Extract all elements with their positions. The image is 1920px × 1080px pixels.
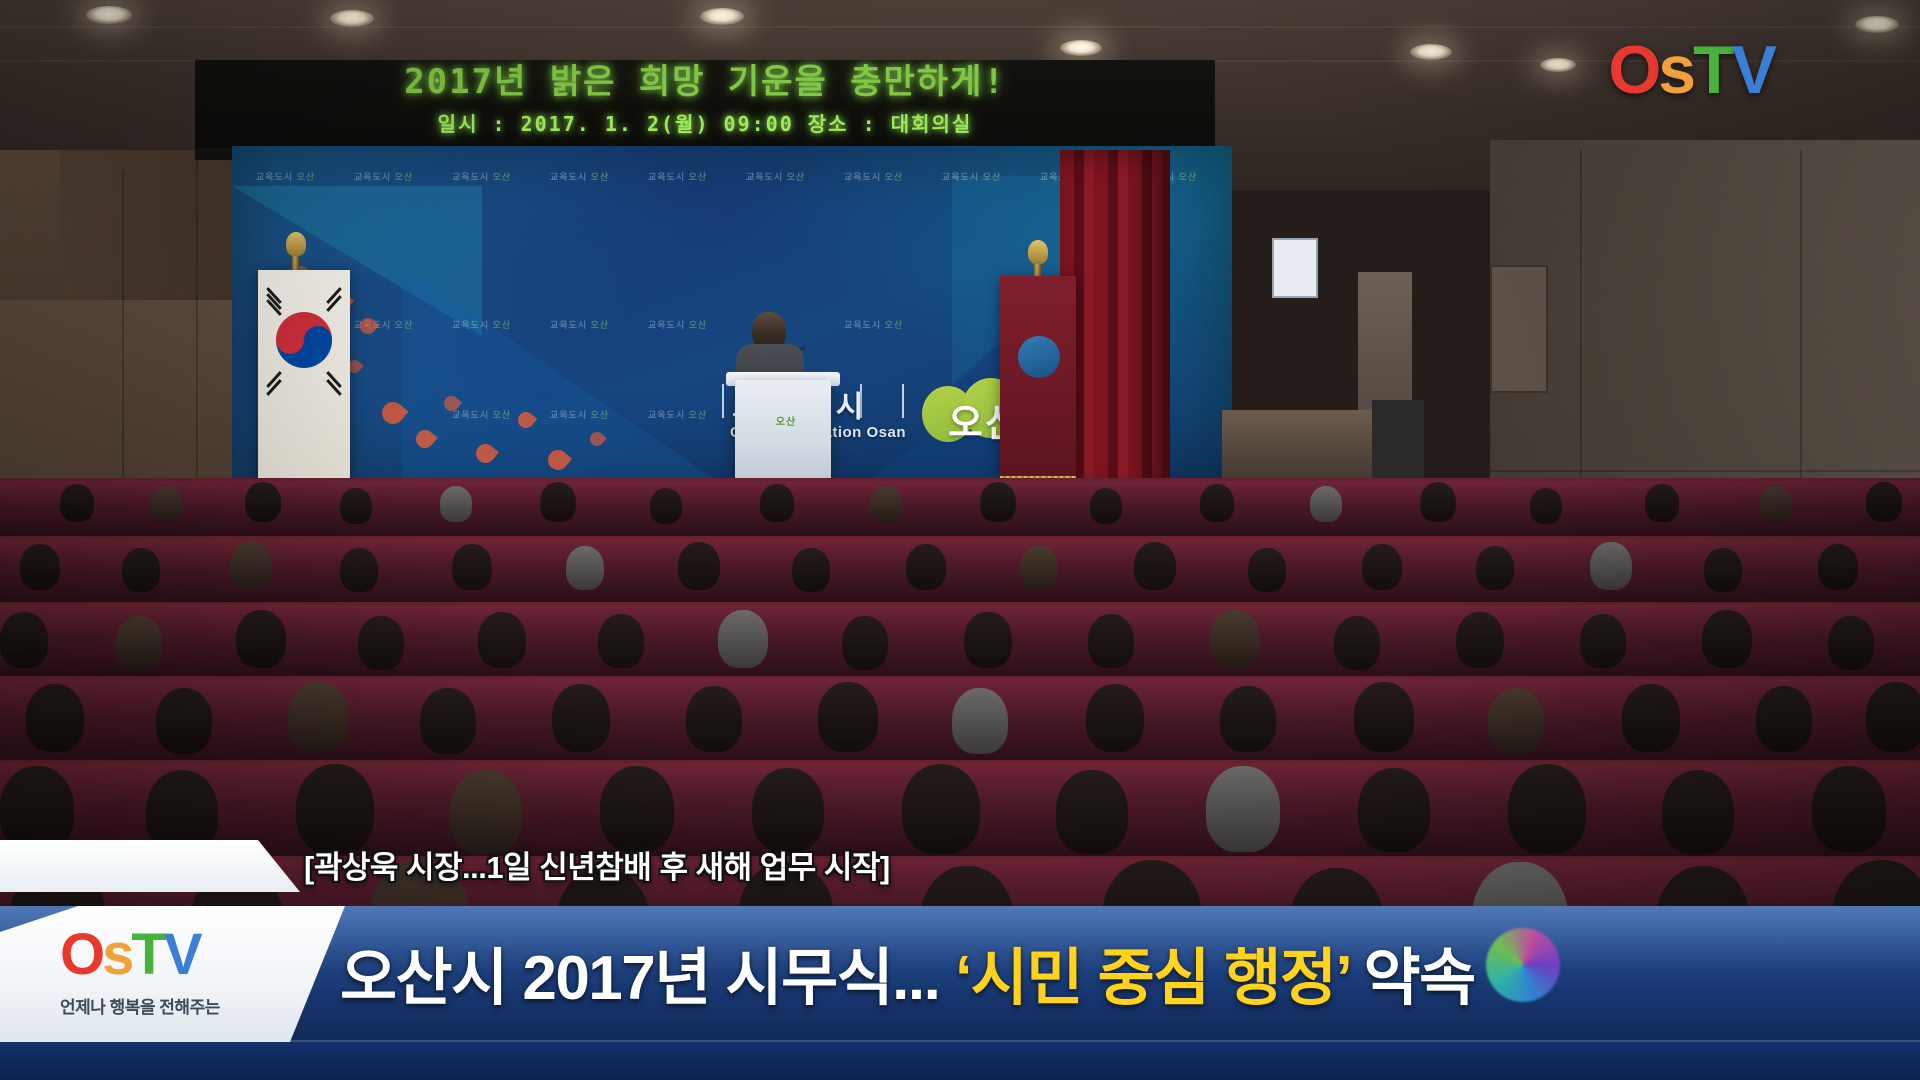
audience-head [1134, 542, 1176, 590]
audience-head [452, 544, 492, 590]
audience-head [1248, 548, 1286, 592]
logo-letter-o: O [60, 922, 102, 987]
left-wall-panel [0, 150, 60, 300]
subtitle-tab-shape [0, 840, 300, 892]
audience-head [1086, 684, 1144, 752]
led-sign: 2017년 밝은 희망 기운을 충만하게! 일시 : 2017. 1. 2(월)… [195, 60, 1215, 148]
audience-head [1362, 544, 1402, 590]
korean-national-flag [258, 270, 350, 485]
watermark-letter-o: O [1608, 32, 1658, 108]
station-logo: OsTV [60, 926, 300, 992]
backdrop-watermark-mark: 오산 [493, 320, 512, 330]
audience-head [0, 612, 48, 668]
audience-head [686, 686, 742, 752]
audience-head [60, 484, 94, 522]
backdrop-watermark-mark: 오산 [591, 410, 610, 420]
audience-head [1590, 542, 1632, 590]
audience-head [1756, 686, 1812, 752]
audience-head [678, 542, 720, 590]
audience-head [650, 488, 682, 524]
backdrop-watermark-mark: 오산 [493, 410, 512, 420]
backdrop-watermark-mark: 오산 [591, 172, 610, 182]
backdrop-watermark-mark: 오산 [787, 172, 806, 182]
backdrop-watermark-mark: 오산 [395, 172, 414, 182]
audience-head [1866, 482, 1902, 522]
backdrop-watermark-mark: 오산 [689, 172, 708, 182]
seat-row [0, 602, 1920, 676]
audience-head [1334, 616, 1380, 670]
audience-head [1488, 688, 1544, 754]
backdrop-watermark-mark: 오산 [395, 320, 414, 330]
ceiling-light [86, 6, 132, 24]
audience-head [1702, 610, 1752, 668]
ceiling-light [700, 8, 744, 25]
audience-head [718, 610, 768, 668]
backdrop-watermark-mark: 오산 [591, 320, 610, 330]
audience-head [122, 548, 160, 592]
audience-head [440, 486, 472, 522]
station-tagline: 언제나 행복을 전해주는 [60, 993, 310, 1018]
audience-head [566, 546, 604, 590]
audience-head [340, 488, 372, 524]
ceiling-light [330, 10, 374, 27]
stage-curtain [1060, 150, 1170, 500]
headline-quote: ‘시민 중심 행정’ [955, 944, 1349, 1013]
lower-third: [곽상욱 시장...1일 신년참배 후 새해 업무 시작] 오산시 2017년 … [0, 830, 1920, 1080]
seat-row [0, 478, 1920, 536]
audience-head [1220, 686, 1276, 752]
logo-letter-t: T [131, 922, 163, 987]
audience-head [964, 612, 1012, 668]
ceiling-light [1410, 44, 1452, 60]
backdrop-watermark-text: 교육도시 [648, 410, 685, 420]
wall-notice-board [1272, 238, 1318, 298]
audience-head [1818, 544, 1858, 590]
backdrop-watermark-mark: 오산 [885, 172, 904, 182]
audience-head [26, 684, 84, 752]
audience-head [230, 542, 272, 590]
wall-panel-dark [1490, 265, 1548, 393]
flag-finial [286, 232, 306, 256]
audience-head [598, 614, 644, 668]
watermark-letter-s: s [1658, 32, 1693, 108]
backdrop-watermark-mark: 오산 [1179, 172, 1198, 182]
backdrop-watermark-mark: 오산 [493, 172, 512, 182]
ceiling-light [1540, 58, 1576, 72]
subtitle-text: [곽상욱 시장...1일 신년참배 후 새해 업무 시작] [304, 842, 890, 887]
audience-head [1866, 682, 1920, 752]
audience-head [1476, 546, 1514, 590]
audience-head [156, 688, 212, 754]
led-sign-line-1: 2017년 밝은 희망 기운을 충만하게! [195, 60, 1215, 103]
audience-head [1704, 548, 1742, 592]
flag-finial [1028, 240, 1048, 264]
organization-emblem [1018, 336, 1060, 378]
backdrop-watermark-text: 교육도시 [452, 320, 489, 330]
backdrop-watermark-mark: 오산 [983, 172, 1002, 182]
backdrop-watermark-text: 교육도시 [844, 172, 881, 182]
audience-head [952, 688, 1008, 754]
backdrop-watermark-text: 교육도시 [648, 172, 685, 182]
audience-head [1622, 684, 1680, 752]
ceiling-light [1060, 40, 1102, 56]
audience-head [1645, 484, 1679, 522]
audience-head [760, 484, 794, 522]
audience-head [1088, 614, 1134, 668]
backdrop-watermark-text: 교육도시 [452, 410, 489, 420]
backdrop-watermark-text: 교육도시 [746, 172, 783, 182]
audience-head [818, 682, 878, 752]
ceiling-seam [0, 26, 1920, 28]
backdrop-watermark-mark: 오산 [689, 410, 708, 420]
logo-letter-v: V [164, 922, 200, 987]
backdrop-watermark-text: 교육도시 [256, 172, 293, 182]
backdrop-watermark-text: 교육도시 [942, 172, 979, 182]
station-watermark-logo: OsTV [1608, 36, 1774, 104]
audience-head [340, 548, 378, 592]
audience-head [1760, 486, 1792, 522]
logo-letter-s: s [102, 922, 131, 987]
backdrop-watermark-text: 교육도시 [550, 320, 587, 330]
audience-head [150, 486, 182, 522]
audience-head [1210, 610, 1260, 668]
audience-head [980, 482, 1016, 522]
audience-head [870, 486, 902, 522]
audience-head [540, 482, 576, 522]
headline-part-2: 약속 [1364, 944, 1475, 1013]
backdrop-watermark-text: 교육도시 [354, 172, 391, 182]
broadcast-frame: 2017년 밝은 희망 기운을 충만하게! 일시 : 2017. 1. 2(월)… [0, 0, 1920, 1080]
audience-head [288, 682, 348, 752]
audience-head [1310, 486, 1342, 522]
audience-head [1456, 612, 1504, 668]
audience-head [1530, 488, 1562, 524]
audience-head [552, 684, 610, 752]
organization-flag [1000, 276, 1076, 476]
backdrop-watermark-text: 교육도시 [452, 172, 489, 182]
audience-head [116, 616, 162, 670]
podium-logo: 오산 [765, 412, 807, 434]
backdrop-watermark-text: 교육도시 [550, 172, 587, 182]
audience-head [1828, 616, 1874, 670]
audience-head [1420, 482, 1456, 522]
audience-head [1200, 484, 1234, 522]
backdrop-watermark-mark: 오산 [297, 172, 316, 182]
audience-head [792, 548, 830, 592]
watermark-letter-t: T [1693, 32, 1732, 108]
audience-head [842, 616, 888, 670]
audience-head [1020, 546, 1058, 590]
taeguk-symbol [276, 312, 332, 368]
audience-head [1354, 682, 1414, 752]
audience-head [358, 616, 404, 670]
audience-head [20, 544, 60, 590]
backdrop-watermark-text: 교육도시 [844, 320, 881, 330]
backdrop-watermark-text: 교육도시 [648, 320, 685, 330]
audience-head [478, 612, 526, 668]
watermark-letter-v: V [1732, 32, 1774, 108]
headline-part-1: 오산시 2017년 시무식... [340, 944, 939, 1013]
backdrop-watermark-mark: 오산 [885, 320, 904, 330]
audience-head [245, 482, 281, 522]
ceiling-light [1855, 16, 1899, 33]
led-sign-line-2: 일시 : 2017. 1. 2(월) 09:00 장소 : 대회의실 [195, 108, 1215, 137]
audience-head [236, 610, 286, 668]
headline-text: 오산시 2017년 시무식... ‘시민 중심 행정’ 약속 [340, 948, 1880, 1010]
audience-head [906, 544, 946, 590]
audience-head [1580, 614, 1626, 668]
audience-head [1090, 488, 1122, 524]
audience-head [420, 688, 476, 754]
seat-row [0, 536, 1920, 602]
headline-bar-bottom-strip [0, 1042, 1920, 1080]
backdrop-watermark-text: 교육도시 [550, 410, 587, 420]
backdrop-watermark-mark: 오산 [689, 320, 708, 330]
